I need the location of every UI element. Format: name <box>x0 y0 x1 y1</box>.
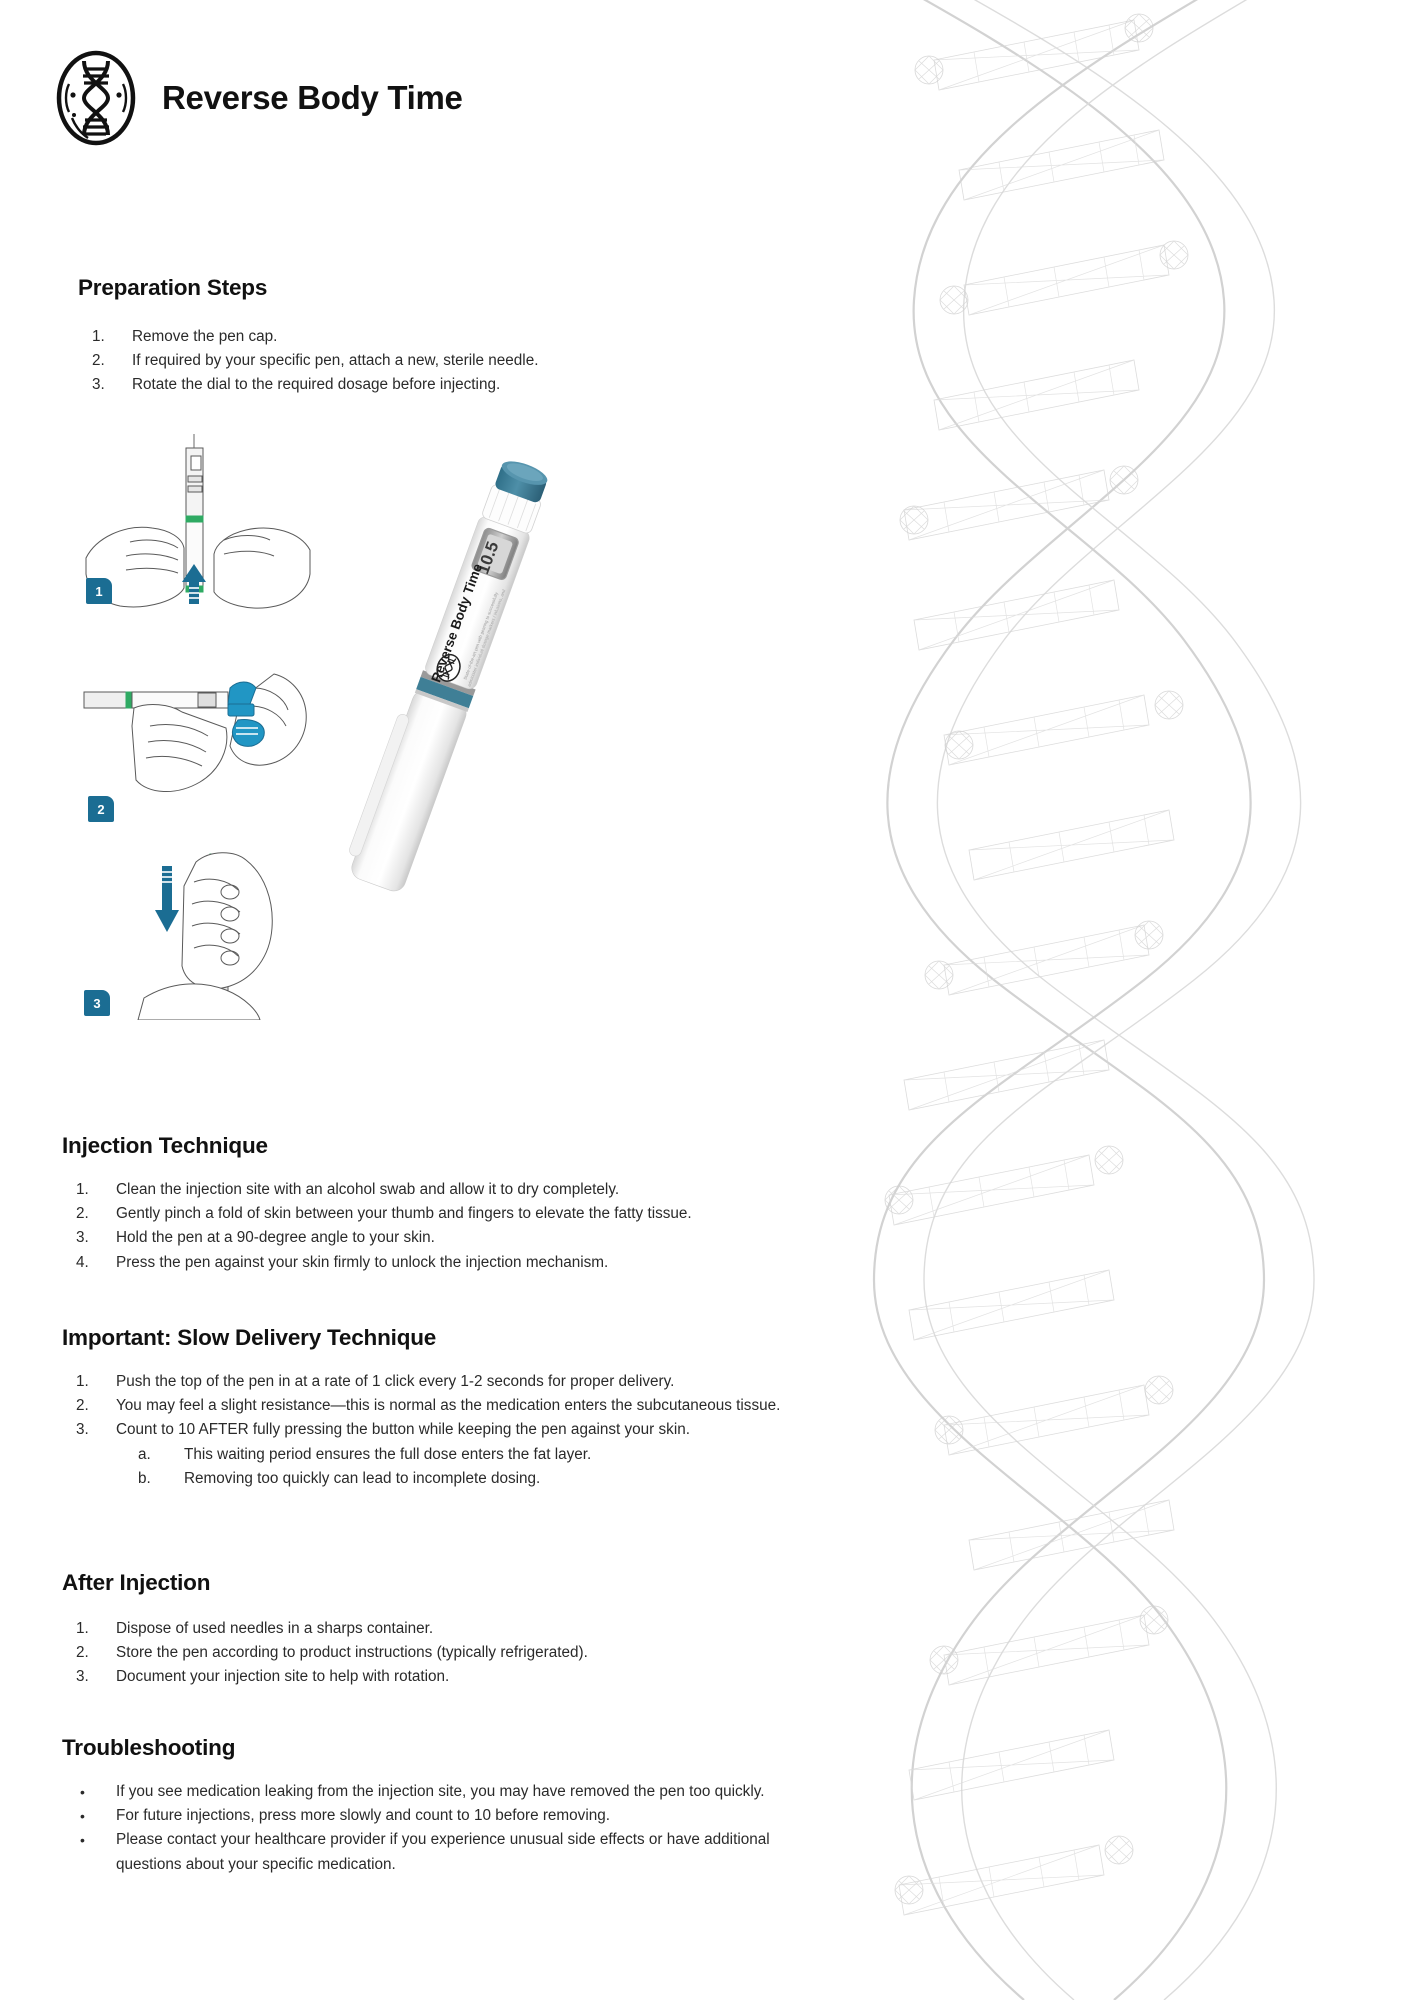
list-marker: 1. <box>62 1178 116 1202</box>
list-item: 2. Store the pen according to product in… <box>62 1641 822 1665</box>
list-item: 3. Hold the pen at a 90-degree angle to … <box>62 1226 822 1250</box>
brand-title: Reverse Body Time <box>162 79 463 117</box>
step-3-dial-dose-illustration: 3 <box>78 830 318 1020</box>
list-text: Rotate the dial to the required dosage b… <box>132 373 798 397</box>
injection-pen-illustration: 10.5 Reverse Body Time State-of-the-a <box>290 428 610 928</box>
list-item: 2. Gently pinch a fold of skin between y… <box>62 1202 822 1226</box>
list-item: 1. Dispose of used needles in a sharps c… <box>62 1617 822 1641</box>
bullet-marker: • <box>62 1828 116 1852</box>
sub-list-marker: b. <box>124 1467 184 1491</box>
sub-list-marker: a. <box>124 1443 184 1467</box>
list-item: 1. Push the top of the pen in at a rate … <box>62 1370 822 1394</box>
list-text: Dispose of used needles in a sharps cont… <box>116 1617 822 1641</box>
list-item: 4. Press the pen against your skin firml… <box>62 1251 822 1275</box>
list-text: Document your injection site to help wit… <box>116 1665 822 1689</box>
list-text: If required by your specific pen, attach… <box>132 349 798 373</box>
list-text: Gently pinch a fold of skin between your… <box>116 1202 822 1226</box>
list-marker: 1. <box>62 1617 116 1641</box>
list-item: • If you see medication leaking from the… <box>62 1780 802 1804</box>
section-heading-after-injection: After Injection <box>62 1570 210 1596</box>
after-injection-list: 1. Dispose of used needles in a sharps c… <box>62 1617 822 1690</box>
list-item: 2. If required by your specific pen, att… <box>78 349 798 373</box>
sub-list-item: a. This waiting period ensures the full … <box>124 1443 822 1467</box>
list-item: 2. You may feel a slight resistance—this… <box>62 1394 822 1418</box>
brand-header: Reverse Body Time <box>52 48 463 148</box>
list-item: 1. Remove the pen cap. <box>78 325 798 349</box>
list-marker: 3. <box>78 373 132 397</box>
list-marker: 2. <box>78 349 132 373</box>
list-marker: 1. <box>78 325 132 349</box>
list-marker: 3. <box>62 1226 116 1250</box>
slow-delivery-list: 1. Push the top of the pen in at a rate … <box>62 1370 822 1491</box>
list-text: Please contact your healthcare provider … <box>116 1828 802 1876</box>
list-marker: 1. <box>62 1370 116 1394</box>
list-marker: 3. <box>62 1665 116 1689</box>
document-page: Reverse Body Time Preparation Steps 1. R… <box>0 0 1414 2000</box>
list-text: You may feel a slight resistance—this is… <box>116 1394 822 1418</box>
list-item: 3. Rotate the dial to the required dosag… <box>78 373 798 397</box>
bullet-marker: • <box>62 1804 116 1828</box>
list-text: For future injections, press more slowly… <box>116 1804 802 1828</box>
step-badge-1: 1 <box>86 578 112 604</box>
sub-list-item: b. Removing too quickly can lead to inco… <box>124 1467 822 1491</box>
list-item: 1. Clean the injection site with an alco… <box>62 1178 822 1202</box>
section-heading-injection-technique: Injection Technique <box>62 1133 268 1159</box>
sub-list-text: This waiting period ensures the full dos… <box>184 1443 822 1467</box>
list-marker: 3. <box>62 1418 116 1442</box>
list-text: If you see medication leaking from the i… <box>116 1780 802 1804</box>
list-text: Push the top of the pen in at a rate of … <box>116 1370 822 1394</box>
list-marker: 4. <box>62 1251 116 1275</box>
step-illustrations: 1 <box>78 430 318 1030</box>
list-item: 3. Document your injection site to help … <box>62 1665 822 1689</box>
section-heading-slow-delivery: Important: Slow Delivery Technique <box>62 1325 436 1351</box>
step-badge-3: 3 <box>84 990 110 1016</box>
section-heading-troubleshooting: Troubleshooting <box>62 1735 235 1761</box>
list-text: Count to 10 AFTER fully pressing the but… <box>116 1418 822 1442</box>
section-heading-preparation: Preparation Steps <box>78 275 267 301</box>
list-text: Press the pen against your skin firmly t… <box>116 1251 822 1275</box>
step-1-remove-cap-illustration: 1 <box>78 430 318 620</box>
preparation-steps-list: 1. Remove the pen cap. 2. If required by… <box>78 325 798 398</box>
step-badge-2: 2 <box>88 796 114 822</box>
dna-helix-icon <box>52 48 140 148</box>
list-item: • For future injections, press more slow… <box>62 1804 802 1828</box>
list-text: Store the pen according to product instr… <box>116 1641 822 1665</box>
list-marker: 2. <box>62 1202 116 1226</box>
list-item: 3. Count to 10 AFTER fully pressing the … <box>62 1418 822 1442</box>
list-marker: 2. <box>62 1641 116 1665</box>
list-text: Clean the injection site with an alcohol… <box>116 1178 822 1202</box>
list-marker: 2. <box>62 1394 116 1418</box>
sub-list-text: Removing too quickly can lead to incompl… <box>184 1467 822 1491</box>
bullet-marker: • <box>62 1780 116 1804</box>
list-text: Remove the pen cap. <box>132 325 798 349</box>
step-2-attach-needle-illustration: 2 <box>78 630 318 820</box>
injection-technique-list: 1. Clean the injection site with an alco… <box>62 1178 822 1275</box>
list-text: Hold the pen at a 90-degree angle to you… <box>116 1226 822 1250</box>
list-item: • Please contact your healthcare provide… <box>62 1828 802 1876</box>
troubleshooting-list: • If you see medication leaking from the… <box>62 1780 802 1877</box>
